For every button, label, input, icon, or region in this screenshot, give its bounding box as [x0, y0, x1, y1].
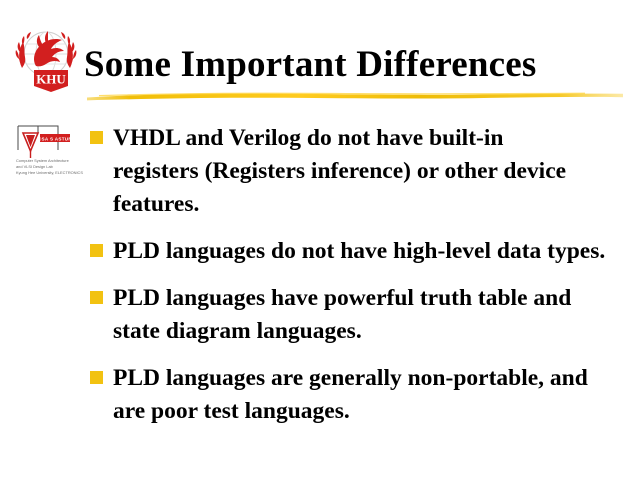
title-block: Some Important Differences: [84, 44, 630, 106]
bullet-square-icon-1: [90, 131, 103, 144]
bullet-item-2: PLD languages do not have high-level dat…: [90, 235, 630, 268]
csa-caption-line-3: Kyung Hee University, ELECTRONICS: [16, 170, 83, 175]
bullet-text-1: VHDL and Verilog do not have built-in re…: [113, 122, 583, 221]
bullet-item-4: PLD languages are generally non-portable…: [90, 362, 630, 428]
bullet-text-3: PLD languages have powerful truth table …: [113, 282, 593, 348]
bullet-list: VHDL and Verilog do not have built-in re…: [90, 122, 630, 442]
bullet-square-icon-3: [90, 291, 103, 304]
bullet-text-4: PLD languages are generally non-portable…: [113, 362, 593, 428]
bullet-item-1: VHDL and Verilog do not have built-in re…: [90, 122, 630, 221]
khu-university-emblem-logo: KHU: [12, 26, 80, 92]
presentation-slide: KHU Some Important Differences: [0, 0, 640, 480]
csa-sponsor-logo: CSA S ASTUR Computer System Architecture…: [14, 124, 88, 182]
bullet-square-icon-2: [90, 244, 103, 257]
bullet-text-2: PLD languages do not have high-level dat…: [113, 235, 613, 268]
csa-caption-line-1: Computer System Architecture: [16, 158, 69, 163]
title-underline-brushstroke: [85, 90, 625, 102]
page-title: Some Important Differences: [84, 44, 630, 86]
csa-caption-line-2: and VLSI Design Lab: [16, 164, 53, 169]
bullet-item-3: PLD languages have powerful truth table …: [90, 282, 630, 348]
bullet-square-icon-4: [90, 371, 103, 384]
khu-logo-text: KHU: [36, 72, 66, 87]
csa-badge-text: CSA S ASTUR: [38, 136, 72, 141]
